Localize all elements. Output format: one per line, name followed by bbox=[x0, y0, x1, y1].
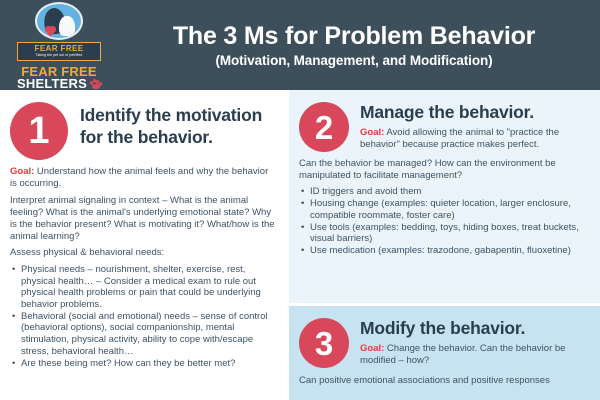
section-3-header: 3 Modify the behavior. Goal: Change the … bbox=[299, 318, 590, 368]
section-1-goal-label: Goal: bbox=[10, 166, 34, 177]
list-item: Are these being met? How can they be bet… bbox=[21, 358, 276, 370]
section-1-number-badge: 1 bbox=[10, 102, 68, 160]
section-2-paragraph-1: Can the behavior be managed? How can the… bbox=[299, 158, 590, 181]
section-3-paragraph-1: Can positive emotional associations and … bbox=[299, 375, 590, 387]
section-1-paragraph-1: Interpret animal signaling in context – … bbox=[10, 195, 276, 242]
heart-icon bbox=[46, 27, 56, 37]
section-2-goal-text: Avoid allowing the animal to "practice t… bbox=[360, 127, 559, 150]
section-3-goal-label: Goal: bbox=[360, 343, 384, 354]
list-item: Housing change (examples: quieter locati… bbox=[310, 198, 590, 221]
section-3-goal: Goal: Change the behavior. Can the behav… bbox=[360, 343, 590, 366]
section-1-header: 1 Identify the motivation for the behavi… bbox=[10, 102, 276, 160]
section-2-header: 2 Manage the behavior. Goal: Avoid allow… bbox=[299, 102, 590, 152]
section-3-title: Modify the behavior. bbox=[360, 318, 590, 338]
section-2-title: Manage the behavior. bbox=[360, 102, 590, 122]
section-2-goal-label: Goal: bbox=[360, 127, 384, 138]
section-3-body: Can positive emotional associations and … bbox=[299, 375, 590, 387]
section-1-bullet-list: Physical needs – nourishment, shelter, e… bbox=[10, 264, 276, 369]
header-title-block: The 3 Ms for Problem Behavior (Motivatio… bbox=[118, 22, 600, 69]
logo-badge-icon bbox=[35, 2, 83, 40]
section-1-goal-text: Understand how the animal feels and why … bbox=[10, 166, 268, 189]
section-1-title: Identify the motivation for the behavior… bbox=[80, 102, 276, 148]
list-item: Use tools (examples: bedding, toys, hidi… bbox=[310, 222, 590, 245]
infographic-page: FEAR FREE Taking the pet out of petrifie… bbox=[0, 0, 600, 400]
section-2-panel: 2 Manage the behavior. Goal: Avoid allow… bbox=[289, 90, 600, 303]
right-column: 2 Manage the behavior. Goal: Avoid allow… bbox=[289, 90, 600, 400]
section-1-body: Interpret animal signaling in context – … bbox=[10, 195, 276, 369]
list-item: ID triggers and avoid them bbox=[310, 186, 590, 198]
paw-print-icon bbox=[90, 79, 101, 89]
page-subtitle: (Motivation, Management, and Modificatio… bbox=[118, 52, 590, 69]
page-title: The 3 Ms for Problem Behavior bbox=[118, 22, 590, 51]
logo-plate-top: FEAR FREE bbox=[18, 44, 100, 53]
list-item: Use medication (examples: trazodone, gab… bbox=[310, 245, 590, 257]
fear-free-shelters-logo: FEAR FREE Taking the pet out of petrifie… bbox=[0, 0, 118, 90]
section-1-panel: 1 Identify the motivation for the behavi… bbox=[0, 90, 286, 400]
logo-wordmark-bottom: SHELTERS bbox=[17, 78, 87, 90]
section-1-paragraph-2: Assess physical & behavioral needs: bbox=[10, 247, 276, 259]
logo-wordmark: FEAR FREE SHELTERS bbox=[17, 66, 101, 90]
section-2-bullet-list: ID triggers and avoid them Housing chang… bbox=[299, 186, 590, 256]
section-3-number-badge: 3 bbox=[299, 318, 349, 368]
cat-silhouette-icon bbox=[59, 16, 75, 36]
logo-plate: FEAR FREE Taking the pet out of petrifie… bbox=[17, 42, 101, 61]
list-item: Behavioral (social and emotional) needs … bbox=[21, 311, 276, 358]
header-banner: FEAR FREE Taking the pet out of petrifie… bbox=[0, 0, 600, 90]
section-2-number-badge: 2 bbox=[299, 102, 349, 152]
logo-plate-tagline: Taking the pet out of petrified bbox=[18, 53, 100, 58]
list-item: Physical needs – nourishment, shelter, e… bbox=[21, 264, 276, 311]
section-2-goal: Goal: Avoid allowing the animal to "prac… bbox=[360, 127, 590, 150]
section-1-goal: Goal: Understand how the animal feels an… bbox=[10, 166, 276, 189]
section-2-body: Can the behavior be managed? How can the… bbox=[299, 158, 590, 257]
section-3-goal-text: Change the behavior. Can the behavior be… bbox=[360, 343, 565, 366]
section-3-panel: 3 Modify the behavior. Goal: Change the … bbox=[289, 306, 600, 400]
